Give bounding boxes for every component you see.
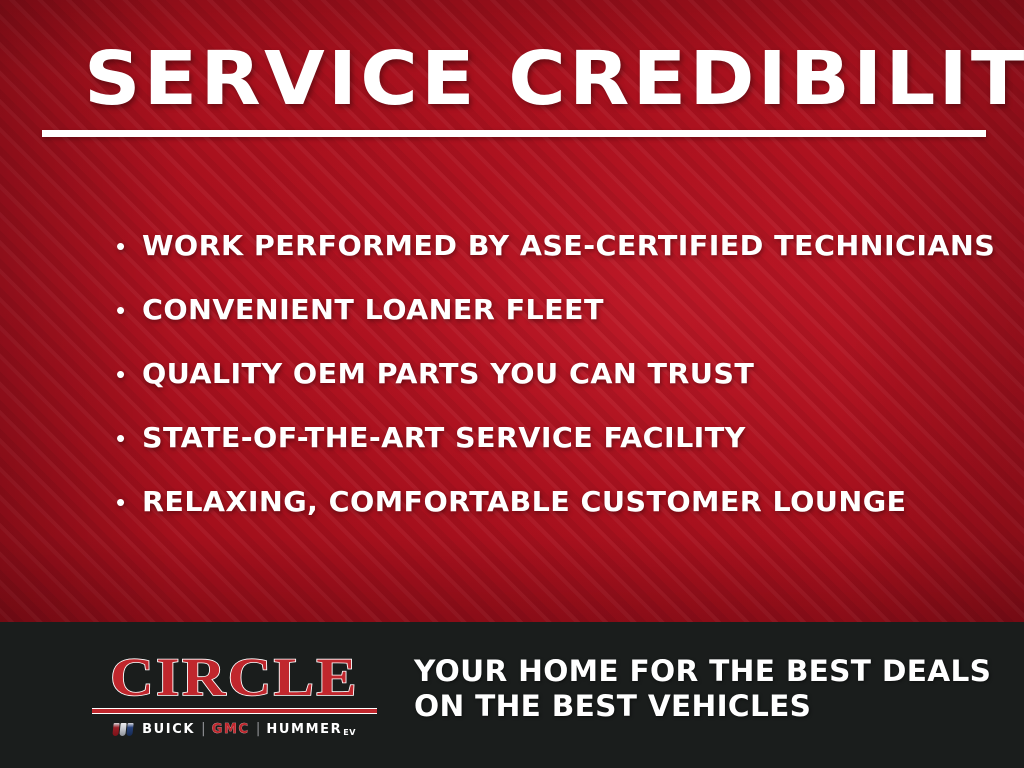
brand-separator-icon: | (201, 722, 206, 737)
bullet-dot-icon: • (116, 484, 142, 520)
list-item: • RELAXING, COMFORTABLE CUSTOMER LOUNGE (116, 484, 986, 548)
brand-label-hummer-group: HUMMER EV (266, 722, 355, 737)
presentation-slide: SERVICE CREDIBILITY • WORK PERFORMED BY … (0, 0, 1024, 768)
footer-tagline-line-2: ON THE BEST VEHICLES (414, 689, 991, 724)
feature-bullet-list: • WORK PERFORMED BY ASE-CERTIFIED TECHNI… (116, 228, 986, 548)
list-item-label: CONVENIENT LOANER FLEET (142, 292, 604, 328)
list-item: • WORK PERFORMED BY ASE-CERTIFIED TECHNI… (116, 228, 986, 292)
list-item-label: QUALITY OEM PARTS YOU CAN TRUST (142, 356, 754, 392)
slide-footer: CIRCLE BUICK | GMC | HUMMER EV YOUR HOME (0, 622, 1024, 768)
brand-strip: BUICK | GMC | HUMMER EV (92, 720, 377, 738)
brand-separator-icon: | (256, 722, 261, 737)
bullet-dot-icon: • (116, 228, 142, 264)
list-item-label: WORK PERFORMED BY ASE-CERTIFIED TECHNICI… (142, 228, 995, 264)
brand-label-hummer: HUMMER (266, 722, 342, 737)
bullet-dot-icon: • (116, 356, 142, 392)
list-item: • CONVENIENT LOANER FLEET (116, 292, 986, 356)
list-item: • QUALITY OEM PARTS YOU CAN TRUST (116, 356, 986, 420)
brand-label-buick: BUICK (142, 722, 195, 737)
list-item: • STATE-OF-THE-ART SERVICE FACILITY (116, 420, 986, 484)
buick-tri-shield-icon (113, 723, 133, 736)
logo-wordmark: CIRCLE (75, 650, 394, 704)
brand-label-hummer-ev: EV (343, 728, 356, 737)
page-title: SERVICE CREDIBILITY (84, 40, 1024, 118)
brand-label-gmc: GMC (212, 722, 250, 737)
list-item-label: STATE-OF-THE-ART SERVICE FACILITY (142, 420, 746, 456)
dealership-logo: CIRCLE BUICK | GMC | HUMMER EV (92, 650, 377, 738)
title-underline-rule (42, 130, 986, 137)
list-item-label: RELAXING, COMFORTABLE CUSTOMER LOUNGE (142, 484, 906, 520)
footer-tagline-line-1: YOUR HOME FOR THE BEST DEALS (414, 654, 991, 689)
slide-body: SERVICE CREDIBILITY • WORK PERFORMED BY … (0, 0, 1024, 622)
bullet-dot-icon: • (116, 292, 142, 328)
bullet-dot-icon: • (116, 420, 142, 456)
logo-divider-rule (92, 708, 377, 714)
footer-tagline: YOUR HOME FOR THE BEST DEALS ON THE BEST… (414, 654, 991, 724)
